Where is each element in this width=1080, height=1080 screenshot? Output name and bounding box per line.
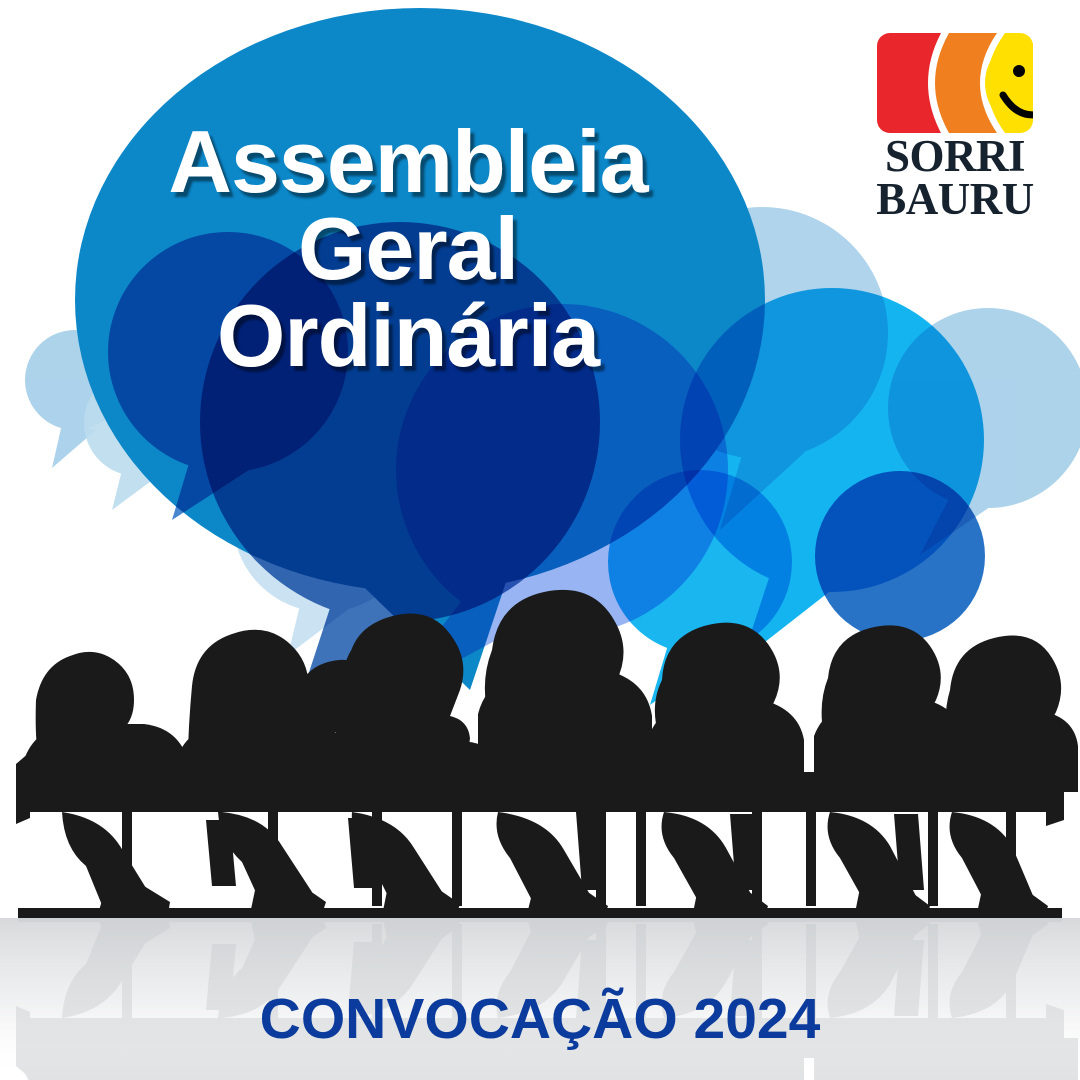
silhouette-group bbox=[16, 590, 1078, 918]
smiley-face-icon bbox=[877, 33, 1033, 133]
logo-wordmark: SORRI BAURU bbox=[871, 135, 1039, 221]
footer-headline: CONVOCAÇÃO 2024 bbox=[0, 986, 1080, 1052]
poster-canvas: Assembleia Geral Ordinária bbox=[0, 0, 1080, 1080]
sorri-bauru-logo[interactable]: SORRI BAURU bbox=[871, 33, 1039, 223]
logo-word-line-1: SORRI bbox=[871, 135, 1039, 178]
logo-word-line-2: BAURU bbox=[871, 178, 1039, 221]
